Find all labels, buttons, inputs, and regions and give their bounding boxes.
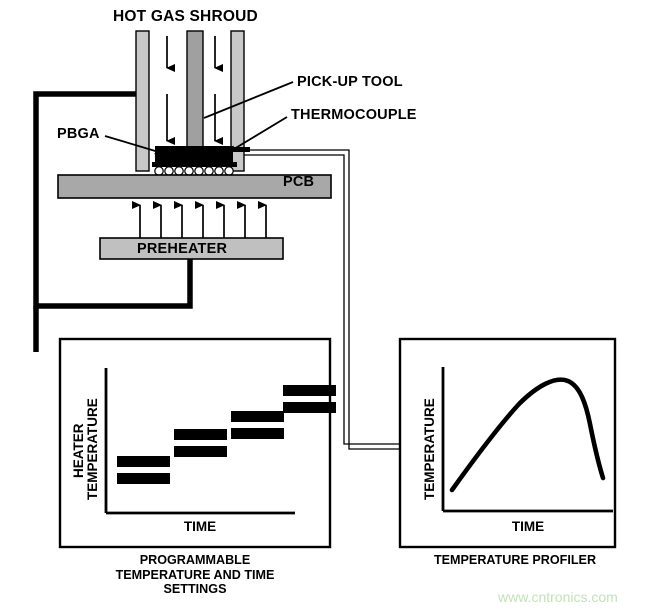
preheater-arrows: [140, 205, 266, 238]
leader-pbga: [105, 136, 162, 153]
bar-step1-lower: [117, 473, 170, 484]
bar-step2-lower: [174, 446, 227, 457]
bar-step3-upper: [231, 411, 284, 422]
solder-ball-row: [155, 167, 233, 175]
site-watermark: www.cntronics.com: [498, 589, 618, 605]
shroud-column-left: [136, 31, 149, 171]
left-chart-ylabel-line2: TEMPERATURE: [85, 398, 100, 500]
bar-step3-lower: [231, 428, 284, 439]
bar-step4-upper: [283, 385, 336, 396]
shroud-column-center: [187, 31, 203, 155]
left-chart-ylabel-line1: HEATER: [71, 423, 86, 478]
page-title: HOT GAS SHROUD: [113, 8, 258, 26]
label-preheater: PREHEATER: [137, 241, 227, 257]
label-pbga: PBGA: [57, 126, 100, 142]
bar-step1-upper: [117, 456, 170, 467]
left-panel-caption: PROGRAMMABLE TEMPERATURE AND TIME SETTIN…: [60, 553, 330, 597]
label-pcb: PCB: [283, 174, 314, 190]
reflow-rework-station-diagram: HEATER TEMPERATURE TIME TEMPERATURE TIME…: [0, 0, 671, 616]
diagram-vector-layer: HEATER TEMPERATURE TIME TEMPERATURE TIME: [0, 0, 671, 616]
leader-pick-up-tool: [204, 82, 293, 118]
label-thermocouple: THERMOCOUPLE: [291, 107, 417, 123]
left-panel-frame: [60, 339, 330, 547]
bar-step4-lower: [283, 402, 336, 413]
pbga-substrate: [152, 162, 237, 167]
bar-step2-upper: [174, 429, 227, 440]
right-panel-caption: TEMPERATURE PROFILER: [390, 553, 640, 568]
label-pick-up-tool: PICK-UP TOOL: [297, 74, 403, 90]
right-chart-ylabel: TEMPERATURE: [422, 398, 437, 500]
right-chart-xlabel: TIME: [512, 519, 544, 534]
pbga-package: [152, 146, 237, 167]
left-chart-xlabel: TIME: [184, 519, 216, 534]
